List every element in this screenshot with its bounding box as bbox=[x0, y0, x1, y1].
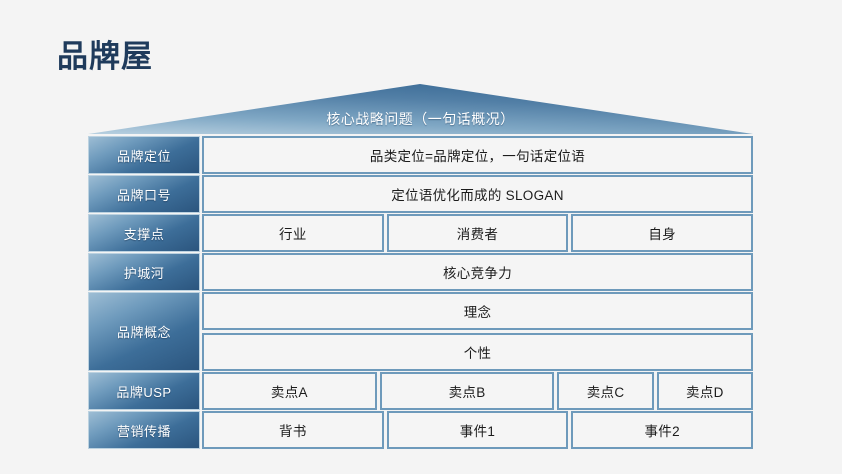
row-content-row-护城河: 核心竞争力 bbox=[202, 253, 753, 291]
row-label-row-支撑点[interactable]: 支撑点 bbox=[88, 214, 200, 252]
row-品牌概念: 品牌概念理念个性 bbox=[88, 292, 753, 371]
row-content-row-支撑点: 行业消费者自身 bbox=[202, 214, 753, 252]
row-label-row-品牌定位[interactable]: 品牌定位 bbox=[88, 136, 200, 174]
row-品牌口号: 品牌口号定位语优化而成的 SLOGAN bbox=[88, 175, 753, 213]
cell-营销传播-1[interactable]: 背书 bbox=[202, 411, 384, 449]
roof-shape: 核心战略问题（一句话概况） bbox=[88, 84, 753, 134]
row-品牌定位: 品牌定位品类定位=品牌定位，一句话定位语 bbox=[88, 136, 753, 174]
row-品牌usp: 品牌USP卖点A卖点B卖点C卖点D bbox=[88, 372, 753, 410]
cell-营销传播-2[interactable]: 事件1 bbox=[387, 411, 569, 449]
row-content-row-品牌概念: 理念个性 bbox=[202, 292, 753, 371]
cell-品牌概念-2[interactable]: 个性 bbox=[202, 333, 753, 371]
roof-label: 核心战略问题（一句话概况） bbox=[88, 84, 753, 134]
row-支撑点: 支撑点行业消费者自身 bbox=[88, 214, 753, 252]
row-content-row-品牌口号: 定位语优化而成的 SLOGAN bbox=[202, 175, 753, 213]
row-label-row-护城河[interactable]: 护城河 bbox=[88, 253, 200, 291]
slide-canvas: 品牌屋 核心战略问题（一句话概况） 品牌定位品类定位=品牌定位，一句话定位语品牌… bbox=[0, 0, 842, 474]
cell-品牌usp-2[interactable]: 卖点B bbox=[380, 372, 555, 410]
row-label-row-品牌usp[interactable]: 品牌USP bbox=[88, 372, 200, 410]
page-title: 品牌屋 bbox=[57, 41, 153, 72]
row-label-row-品牌概念[interactable]: 品牌概念 bbox=[88, 292, 200, 371]
cell-支撑点-3[interactable]: 自身 bbox=[571, 214, 753, 252]
cell-品牌定位-1[interactable]: 品类定位=品牌定位，一句话定位语 bbox=[202, 136, 753, 174]
cell-护城河-1[interactable]: 核心竞争力 bbox=[202, 253, 753, 291]
cell-品牌概念-1[interactable]: 理念 bbox=[202, 292, 753, 330]
row-content-row-品牌usp: 卖点A卖点B卖点C卖点D bbox=[202, 372, 753, 410]
brand-house-diagram: 核心战略问题（一句话概况） 品牌定位品类定位=品牌定位，一句话定位语品牌口号定位… bbox=[88, 84, 753, 445]
cell-支撑点-1[interactable]: 行业 bbox=[202, 214, 384, 252]
row-label-row-营销传播[interactable]: 营销传播 bbox=[88, 411, 200, 449]
row-content-row-营销传播: 背书事件1事件2 bbox=[202, 411, 753, 449]
cell-品牌usp-4[interactable]: 卖点D bbox=[657, 372, 753, 410]
cell-品牌usp-3[interactable]: 卖点C bbox=[557, 372, 653, 410]
cell-支撑点-2[interactable]: 消费者 bbox=[387, 214, 569, 252]
house-rows: 品牌定位品类定位=品牌定位，一句话定位语品牌口号定位语优化而成的 SLOGAN支… bbox=[88, 136, 753, 445]
row-content-row-品牌定位: 品类定位=品牌定位，一句话定位语 bbox=[202, 136, 753, 174]
row-护城河: 护城河核心竞争力 bbox=[88, 253, 753, 291]
cell-营销传播-3[interactable]: 事件2 bbox=[571, 411, 753, 449]
row-label-row-品牌口号[interactable]: 品牌口号 bbox=[88, 175, 200, 213]
row-营销传播: 营销传播背书事件1事件2 bbox=[88, 411, 753, 449]
cell-品牌usp-1[interactable]: 卖点A bbox=[202, 372, 377, 410]
cell-品牌口号-1[interactable]: 定位语优化而成的 SLOGAN bbox=[202, 175, 753, 213]
